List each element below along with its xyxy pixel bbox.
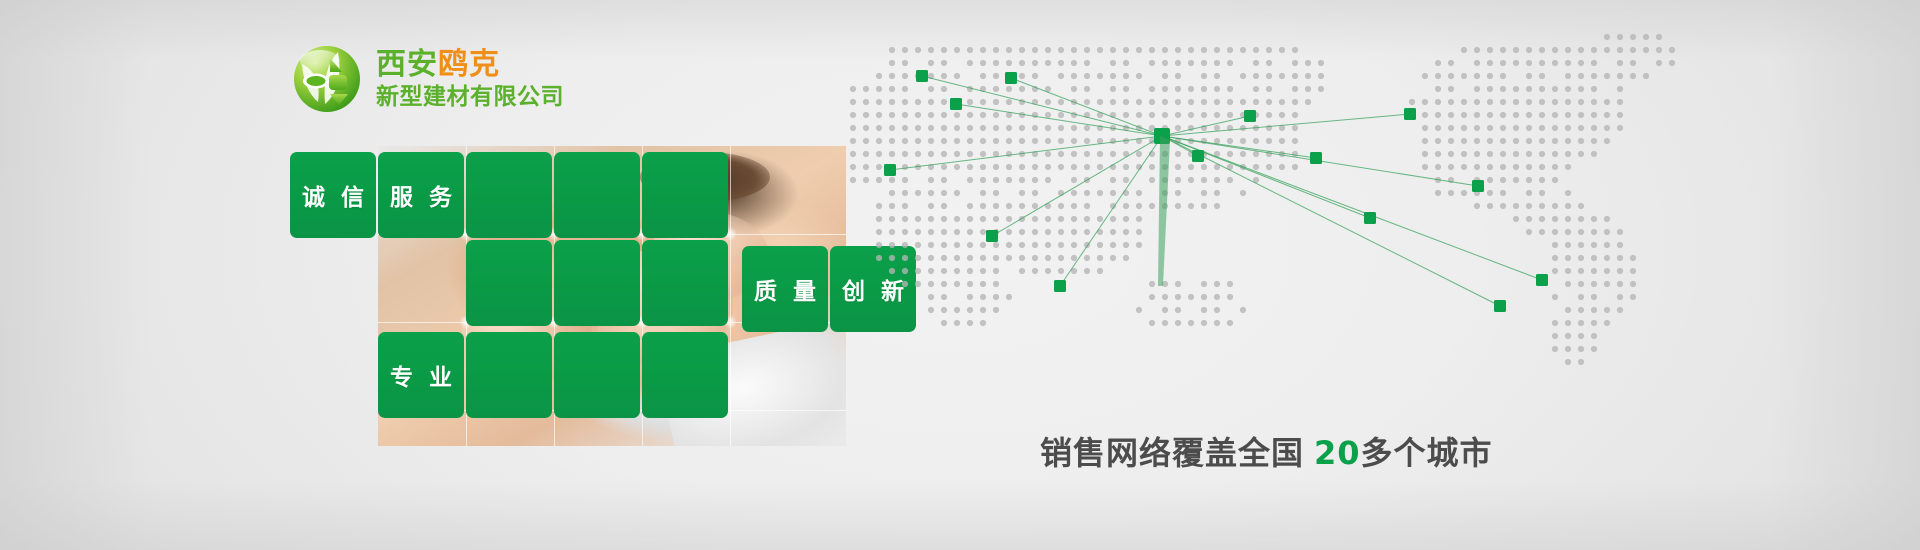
value-tile-1[interactable]: 服 务 [378,152,464,238]
mosaic-tile-12 [554,332,640,418]
left-vignette [0,0,150,550]
mosaic-tile-11 [466,332,552,418]
mosaic-tile-3 [554,152,640,238]
bottom-vignette [0,480,1920,550]
value-tile-10[interactable]: 专 业 [378,332,464,418]
mosaic-tile-5 [466,240,552,326]
company-brand: 鸥克 [438,47,500,82]
tagline-suffix: 多个城市 [1361,434,1493,472]
company-logo[interactable]: 西安鸥克 新型建材有限公司 [292,44,564,114]
company-name-line1: 西安鸥克 [376,48,564,83]
dotted-world-map [730,18,1910,378]
mosaic-tile-7 [642,240,728,326]
company-name-line2: 新型建材有限公司 [376,84,564,110]
mosaic-tile-2 [466,152,552,238]
value-tile-label: 诚 信 [290,152,376,238]
company-globe-leaf-logo-icon [292,44,362,114]
company-city: 西安 [376,47,438,82]
tagline-number: 20 [1314,434,1361,472]
value-tile-0[interactable]: 诚 信 [290,152,376,238]
tagline-prefix: 销售网络覆盖全国 [1040,434,1304,472]
mosaic-tile-6 [554,240,640,326]
marketing-banner: 西安鸥克 新型建材有限公司 诚 信服 务质 量创 新专 业 [0,0,1920,550]
company-logo-text: 西安鸥克 新型建材有限公司 [376,48,564,111]
mosaic-tile-4 [642,152,728,238]
value-tile-label: 服 务 [378,152,464,238]
sales-network-tagline: 销售网络覆盖全国20多个城市 [1040,428,1493,474]
mosaic-tile-13 [642,332,728,418]
value-tile-label: 专 业 [378,332,464,418]
